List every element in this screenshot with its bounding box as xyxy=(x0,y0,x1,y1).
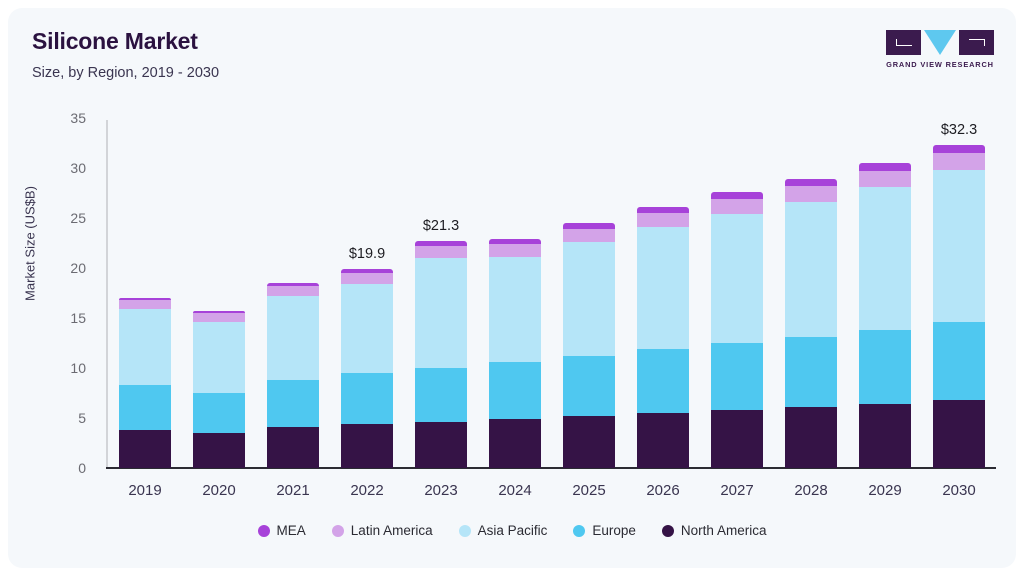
bar-group[interactable] xyxy=(711,192,763,468)
bar-stack xyxy=(119,298,171,468)
x-axis-tick-label: 2023 xyxy=(424,482,457,499)
bar-series-container: $19.9$21.3$32.3 xyxy=(108,118,996,468)
bar-segment-asia-pacific[interactable] xyxy=(119,309,171,385)
bar-value-label: $21.3 xyxy=(423,218,459,234)
bar-segment-latin-america[interactable] xyxy=(415,246,467,258)
legend-swatch-icon xyxy=(258,525,270,537)
bar-value-label: $19.9 xyxy=(349,246,385,262)
bar-segment-latin-america[interactable] xyxy=(119,300,171,309)
bar-stack: $32.3 xyxy=(933,145,985,468)
bar-segment-europe[interactable] xyxy=(637,349,689,413)
x-axis-tick-label: 2020 xyxy=(202,482,235,499)
bar-segment-north-america[interactable] xyxy=(563,416,615,468)
x-axis-tick-label: 2026 xyxy=(646,482,679,499)
bar-segment-europe[interactable] xyxy=(341,373,393,424)
bar-segment-asia-pacific[interactable] xyxy=(563,242,615,356)
y-axis-ticks: 05101520253035 xyxy=(40,8,86,568)
legend-swatch-icon xyxy=(573,525,585,537)
legend-item-asia-pacific[interactable]: Asia Pacific xyxy=(459,523,548,538)
bar-segment-north-america[interactable] xyxy=(859,404,911,468)
bar-stack: $21.3 xyxy=(415,241,467,468)
y-axis-tick-label: 30 xyxy=(46,160,86,176)
legend-item-latin-america[interactable]: Latin America xyxy=(332,523,433,538)
x-axis-tick-label: 2022 xyxy=(350,482,383,499)
bar-segment-north-america[interactable] xyxy=(267,427,319,468)
bar-value-label: $32.3 xyxy=(941,122,977,138)
bar-segment-asia-pacific[interactable] xyxy=(711,214,763,343)
bar-segment-mea[interactable] xyxy=(933,145,985,153)
bar-stack xyxy=(637,207,689,468)
bar-stack: $19.9 xyxy=(341,269,393,468)
bar-stack xyxy=(711,192,763,468)
bar-segment-europe[interactable] xyxy=(859,330,911,404)
legend-label: Asia Pacific xyxy=(478,523,548,538)
bar-stack xyxy=(489,239,541,468)
bar-segment-europe[interactable] xyxy=(119,385,171,430)
bar-segment-europe[interactable] xyxy=(933,322,985,400)
legend-swatch-icon xyxy=(332,525,344,537)
legend-item-europe[interactable]: Europe xyxy=(573,523,636,538)
x-axis-tick-label: 2030 xyxy=(942,482,975,499)
y-axis-tick-label: 15 xyxy=(46,310,86,326)
bar-group[interactable] xyxy=(859,163,911,468)
chart-card: Silicone Market Size, by Region, 2019 - … xyxy=(8,8,1016,568)
bar-stack xyxy=(785,179,837,468)
bar-group[interactable] xyxy=(119,298,171,468)
legend-item-mea[interactable]: MEA xyxy=(258,523,306,538)
x-axis-tick-label: 2025 xyxy=(572,482,605,499)
bar-segment-north-america[interactable] xyxy=(489,419,541,468)
bar-segment-north-america[interactable] xyxy=(119,430,171,468)
x-axis-tick-label: 2027 xyxy=(720,482,753,499)
bar-segment-latin-america[interactable] xyxy=(711,199,763,214)
legend-swatch-icon xyxy=(662,525,674,537)
bar-segment-north-america[interactable] xyxy=(933,400,985,468)
bar-segment-europe[interactable] xyxy=(563,356,615,416)
bar-segment-latin-america[interactable] xyxy=(193,313,245,322)
y-axis-tick-label: 5 xyxy=(46,410,86,426)
bar-group[interactable]: $32.3 xyxy=(933,145,985,468)
bar-segment-latin-america[interactable] xyxy=(267,286,319,296)
bar-segment-north-america[interactable] xyxy=(785,407,837,468)
bar-segment-north-america[interactable] xyxy=(415,422,467,468)
bar-segment-asia-pacific[interactable] xyxy=(489,257,541,362)
bar-segment-asia-pacific[interactable] xyxy=(933,170,985,322)
bar-stack xyxy=(563,223,615,468)
bar-group[interactable]: $19.9 xyxy=(341,269,393,468)
chart-legend: MEALatin AmericaAsia PacificEuropeNorth … xyxy=(8,523,1016,538)
bar-segment-europe[interactable] xyxy=(711,343,763,410)
bar-segment-asia-pacific[interactable] xyxy=(859,187,911,330)
bar-segment-mea[interactable] xyxy=(711,192,763,199)
y-axis-tick-label: 35 xyxy=(46,110,86,126)
bar-segment-europe[interactable] xyxy=(267,380,319,427)
screenshot-frame: Silicone Market Size, by Region, 2019 - … xyxy=(0,0,1024,576)
bar-segment-europe[interactable] xyxy=(193,393,245,433)
bar-segment-mea[interactable] xyxy=(785,179,837,186)
bar-segment-latin-america[interactable] xyxy=(785,186,837,202)
bar-segment-north-america[interactable] xyxy=(637,413,689,468)
bar-segment-europe[interactable] xyxy=(415,368,467,422)
bar-group[interactable] xyxy=(637,207,689,468)
x-axis-tick-label: 2029 xyxy=(868,482,901,499)
legend-item-north-america[interactable]: North America xyxy=(662,523,767,538)
bar-segment-europe[interactable] xyxy=(489,362,541,419)
bar-stack xyxy=(267,283,319,468)
y-axis-tick-label: 25 xyxy=(46,210,86,226)
bar-group[interactable] xyxy=(785,179,837,468)
legend-label: North America xyxy=(681,523,767,538)
bar-segment-latin-america[interactable] xyxy=(563,229,615,242)
bar-segment-asia-pacific[interactable] xyxy=(637,227,689,349)
x-axis-tick-label: 2024 xyxy=(498,482,531,499)
bar-segment-asia-pacific[interactable] xyxy=(785,202,837,337)
bar-group[interactable] xyxy=(563,223,615,468)
bar-segment-asia-pacific[interactable] xyxy=(193,322,245,393)
bar-segment-north-america[interactable] xyxy=(193,433,245,468)
bar-segment-latin-america[interactable] xyxy=(489,244,541,257)
x-axis-tick-label: 2021 xyxy=(276,482,309,499)
legend-label: Latin America xyxy=(351,523,433,538)
y-axis-title: Market Size (US$B) xyxy=(23,114,38,374)
y-axis-tick-label: 10 xyxy=(46,360,86,376)
bar-segment-latin-america[interactable] xyxy=(341,273,393,284)
bar-group[interactable]: $21.3 xyxy=(415,241,467,468)
bar-segment-north-america[interactable] xyxy=(711,410,763,468)
legend-swatch-icon xyxy=(459,525,471,537)
bar-group[interactable] xyxy=(489,239,541,468)
bar-segment-latin-america[interactable] xyxy=(637,213,689,227)
bar-group[interactable] xyxy=(267,283,319,468)
chart-plot-area: Market Size (US$B) 05101520253035 $19.9$… xyxy=(8,8,1016,568)
bar-stack xyxy=(859,163,911,468)
y-axis-tick-label: 0 xyxy=(46,460,86,476)
x-axis-tick-label: 2028 xyxy=(794,482,827,499)
legend-label: MEA xyxy=(277,523,306,538)
bar-segment-latin-america[interactable] xyxy=(933,153,985,170)
bar-segment-europe[interactable] xyxy=(785,337,837,407)
bar-segment-asia-pacific[interactable] xyxy=(415,258,467,368)
bar-group[interactable] xyxy=(193,311,245,468)
bar-segment-asia-pacific[interactable] xyxy=(267,296,319,380)
bar-segment-asia-pacific[interactable] xyxy=(341,284,393,373)
bar-segment-latin-america[interactable] xyxy=(859,171,911,187)
bar-segment-mea[interactable] xyxy=(859,163,911,171)
bar-stack xyxy=(193,311,245,468)
legend-label: Europe xyxy=(592,523,636,538)
y-axis-tick-label: 20 xyxy=(46,260,86,276)
x-axis-tick-label: 2019 xyxy=(128,482,161,499)
bar-segment-north-america[interactable] xyxy=(341,424,393,468)
